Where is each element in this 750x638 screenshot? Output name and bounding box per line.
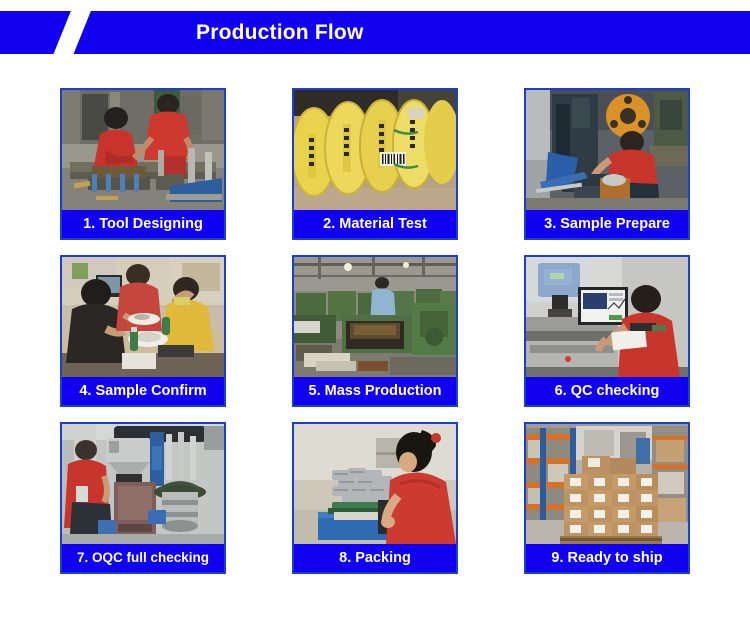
flow-step-caption-1: 1. Tool Designing	[62, 210, 224, 238]
sample-prepare-photo	[526, 90, 688, 210]
flow-step-caption-9: 9. Ready to ship	[526, 544, 688, 572]
flow-step-card-8[interactable]: 8. Packing	[292, 422, 458, 574]
oqc-full-checking-photo	[62, 424, 224, 544]
production-flow-grid: 1. Tool Designing	[60, 88, 690, 574]
page-header-banner: Production Flow	[0, 11, 750, 54]
flow-step-caption-2: 2. Material Test	[294, 210, 456, 238]
flow-step-caption-7: 7. OQC full checking	[62, 544, 224, 572]
flow-step-card-7[interactable]: 7. OQC full checking	[60, 422, 226, 574]
flow-step-card-6[interactable]: 6. QC checking	[524, 255, 690, 407]
flow-step-card-4[interactable]: 4. Sample Confirm	[60, 255, 226, 407]
flow-step-caption-5: 5. Mass Production	[294, 377, 456, 405]
flow-step-caption-3: 3. Sample Prepare	[526, 210, 688, 238]
packing-photo	[294, 424, 456, 544]
page-title: Production Flow	[196, 11, 363, 54]
sample-confirm-photo	[62, 257, 224, 377]
flow-step-caption-8: 8. Packing	[294, 544, 456, 572]
flow-step-caption-4: 4. Sample Confirm	[62, 377, 224, 405]
flow-step-card-9[interactable]: 9. Ready to ship	[524, 422, 690, 574]
tool-designing-photo	[62, 90, 224, 210]
ready-to-ship-photo	[526, 424, 688, 544]
qc-checking-photo	[526, 257, 688, 377]
material-test-photo	[294, 90, 456, 210]
flow-step-card-2[interactable]: 2. Material Test	[292, 88, 458, 240]
mass-production-photo	[294, 257, 456, 377]
banner-slash-icon	[51, 11, 94, 54]
flow-step-caption-6: 6. QC checking	[526, 377, 688, 405]
flow-step-card-5[interactable]: 5. Mass Production	[292, 255, 458, 407]
flow-step-card-3[interactable]: 3. Sample Prepare	[524, 88, 690, 240]
flow-step-card-1[interactable]: 1. Tool Designing	[60, 88, 226, 240]
